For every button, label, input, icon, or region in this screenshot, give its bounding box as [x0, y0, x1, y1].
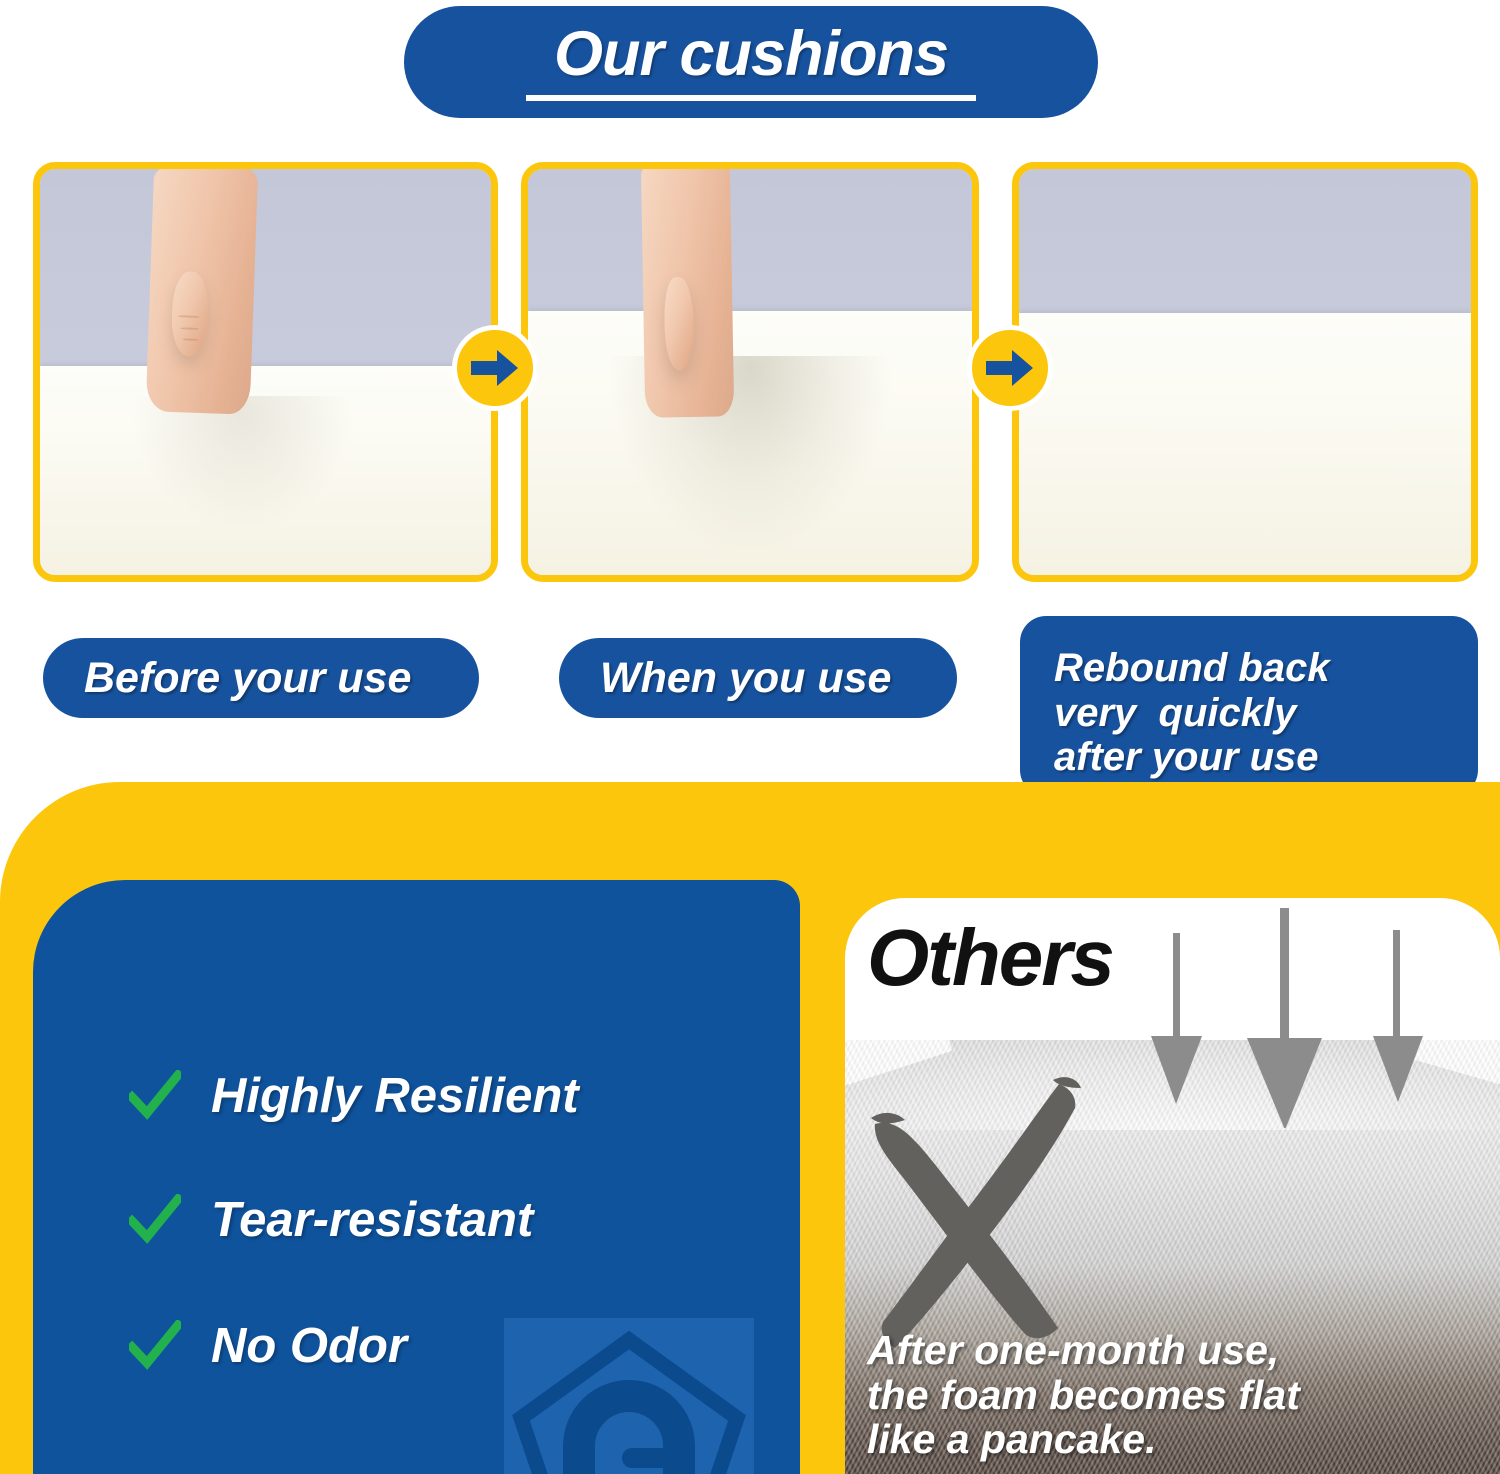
fist-shape [171, 271, 210, 358]
step-caption-when-you-use: When you use [559, 638, 957, 718]
page-title: Our cushions [404, 6, 1098, 118]
others-title: Others [867, 918, 1113, 998]
pentagon-arch-logo-icon [504, 1318, 754, 1474]
brush-x-icon [853, 1066, 1153, 1366]
photo-scene [40, 169, 491, 575]
foam-slab [1019, 313, 1471, 575]
step-caption-rebound: Rebound back very quickly after your use [1020, 616, 1478, 796]
title-underline [526, 95, 976, 101]
photo-scene [528, 169, 972, 575]
feature-item-highly-resilient: Highly Resilient [129, 1068, 579, 1124]
knuckle-line [181, 327, 199, 329]
others-caption: After one-month use, the foam becomes fl… [867, 1328, 1300, 1462]
others-panel: Others After one-month use, the foam bec… [845, 898, 1500, 1474]
feature-label: Highly Resilient [211, 1068, 579, 1124]
check-icon [129, 1194, 181, 1246]
arrow-right-icon [452, 325, 538, 411]
feature-item-no-odor: No Odor [129, 1318, 407, 1374]
our-cushions-section: Our cushions [0, 0, 1500, 812]
foam-dent [103, 396, 383, 558]
knuckle-line [184, 339, 199, 341]
feature-item-tear-resistant: Tear-resistant [129, 1192, 533, 1248]
step-photo-before-use [33, 162, 498, 582]
step-photo-when-you-use [521, 162, 979, 582]
step-caption-text: Rebound back very quickly after your use [1054, 646, 1330, 780]
forearm-shape [641, 162, 734, 417]
fist-shape [665, 276, 695, 370]
comparison-section: Highly Resilient Tear-resistant No Odor [0, 782, 1500, 1474]
photo-scene [1019, 169, 1471, 575]
forearm-shape [146, 162, 258, 414]
step-caption-text: Before your use [84, 654, 411, 703]
feature-label: Tear-resistant [211, 1192, 533, 1248]
check-icon [129, 1320, 181, 1372]
check-icon [129, 1070, 181, 1122]
step-caption-text: When you use [600, 654, 891, 703]
step-caption-before-use: Before your use [43, 638, 479, 718]
foam-dent [555, 356, 946, 575]
down-arrows-icon [1135, 908, 1465, 1128]
arrow-right-icon [967, 325, 1053, 411]
feature-label: No Odor [211, 1318, 407, 1374]
our-features-panel: Highly Resilient Tear-resistant No Odor [33, 880, 800, 1474]
step-photo-rebounded [1012, 162, 1478, 582]
knuckle-line [179, 315, 199, 317]
page-title-text: Our cushions [554, 23, 948, 86]
